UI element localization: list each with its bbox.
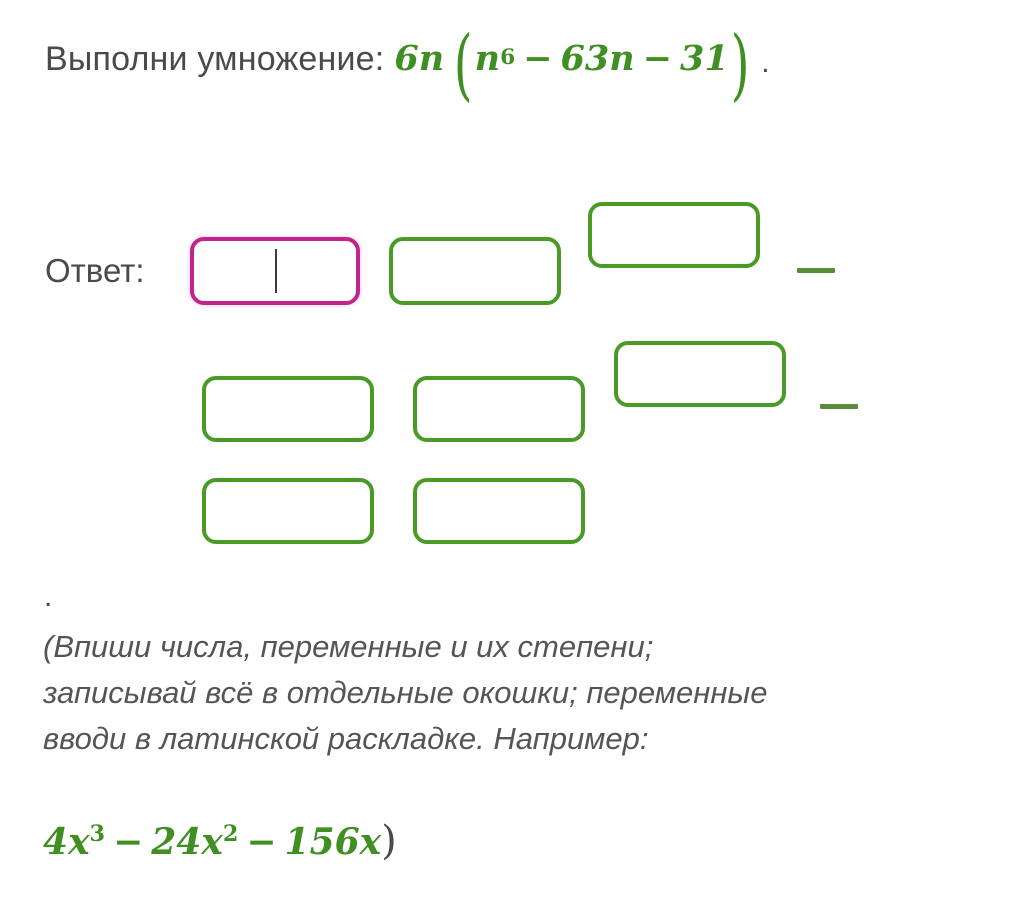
example-operator-2: − [246, 821, 276, 863]
answer-box-5[interactable] [413, 376, 585, 442]
term2-variable: n [609, 38, 634, 79]
expression-operator-1: − [523, 38, 552, 79]
term2-coefficient: 63 [561, 38, 610, 79]
example-variable-2: x [201, 821, 222, 863]
answer-box-6-exponent[interactable] [614, 341, 786, 407]
answer-box-1[interactable] [190, 237, 360, 305]
expression-operator-2: − [643, 38, 672, 79]
hint-paragraph: (Впиши числа, переменные и их степени; з… [43, 624, 1003, 762]
hint-line-1: (Впиши числа, переменные и их степени; [43, 624, 1003, 670]
example-closing-paren: ) [381, 818, 397, 864]
example-exponent-2: 2 [223, 821, 239, 847]
example-coefficient-3: 156 [285, 821, 360, 863]
term3-constant: 31 [680, 38, 729, 79]
answer-label: Ответ: [45, 252, 144, 290]
hint-line-3: вводи в латинской раскладке. Например: [43, 716, 1003, 762]
example-variable-3: x [360, 821, 381, 863]
example-coefficient-1: 4 [43, 821, 68, 863]
paren-right: ) [731, 37, 750, 93]
example-exponent-1: 3 [90, 821, 106, 847]
hint-line-2: записывай всё в отдельные окошки; переме… [43, 670, 1003, 716]
question-line: Выполни умножение: 6n(n6−63n−31) . [45, 30, 770, 86]
paren-left: ( [454, 37, 473, 93]
question-expression: 6n(n6−63n−31) [394, 30, 757, 86]
text-caret [275, 249, 277, 293]
expression-coefficient: 6 [394, 38, 418, 79]
example-operator-1: − [113, 821, 143, 863]
expression-variable: n [419, 38, 444, 79]
answer-box-7[interactable] [202, 478, 374, 544]
answer-box-4[interactable] [202, 376, 374, 442]
term1-variable: n [475, 38, 500, 79]
question-prompt: Выполни умножение: [45, 40, 384, 79]
answer-box-8[interactable] [413, 478, 585, 544]
example-variable-1: x [68, 821, 89, 863]
example-expression: 4x3−24x2−156x) [43, 818, 397, 864]
example-coefficient-2: 24 [151, 821, 201, 863]
answer-box-3-exponent[interactable] [588, 202, 760, 268]
trailing-period: . [44, 580, 52, 614]
question-trailing-dot: . [761, 46, 769, 80]
row-1-minus-operator [797, 268, 835, 273]
answer-box-2[interactable] [389, 237, 561, 305]
row-2-minus-operator [820, 404, 858, 409]
